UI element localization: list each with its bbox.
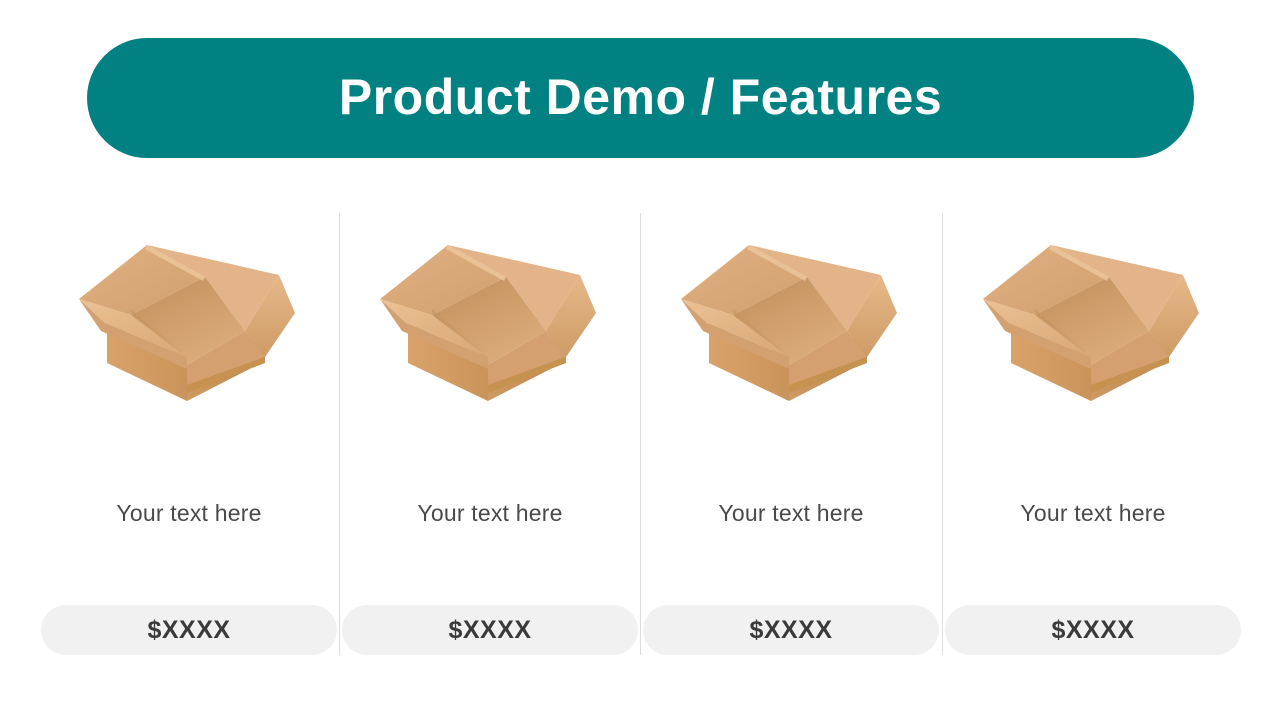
page-title: Product Demo / Features	[339, 72, 942, 122]
price-pill[interactable]: $XXXX	[945, 605, 1241, 655]
price-value: $XXXX	[147, 618, 230, 643]
feature-caption: Your text here	[39, 500, 339, 528]
feature-column-2[interactable]: Your text here $XXXX	[340, 200, 640, 670]
open-cardboard-box-icon	[671, 235, 911, 405]
open-cardboard-box-icon	[69, 235, 309, 405]
price-pill[interactable]: $XXXX	[41, 605, 337, 655]
open-cardboard-box-icon	[370, 235, 610, 405]
open-cardboard-box-icon	[973, 235, 1213, 405]
feature-caption: Your text here	[340, 500, 640, 528]
price-value: $XXXX	[1051, 618, 1134, 643]
title-banner: Product Demo / Features	[87, 38, 1194, 158]
price-value: $XXXX	[749, 618, 832, 643]
feature-caption: Your text here	[641, 500, 941, 528]
feature-column-1[interactable]: Your text here $XXXX	[39, 200, 339, 670]
feature-column-3[interactable]: Your text here $XXXX	[641, 200, 941, 670]
feature-caption: Your text here	[943, 500, 1243, 528]
price-pill[interactable]: $XXXX	[342, 605, 638, 655]
columns-container: Your text here $XXXX	[0, 200, 1280, 680]
slide-root: Product Demo / Features	[0, 0, 1280, 720]
price-pill[interactable]: $XXXX	[643, 605, 939, 655]
feature-column-4[interactable]: Your text here $XXXX	[943, 200, 1243, 670]
price-value: $XXXX	[448, 618, 531, 643]
